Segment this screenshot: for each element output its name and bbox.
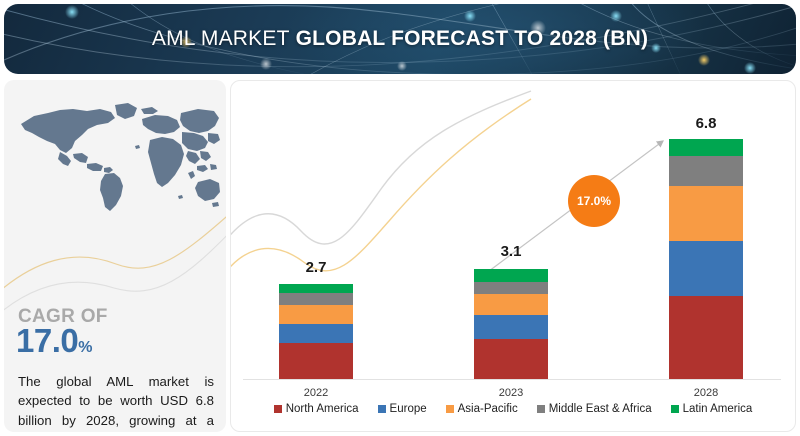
legend-item-asia-pacific[interactable]: Asia-Pacific [446, 403, 518, 415]
cagr-badge: 17.0% [568, 175, 620, 227]
legend-swatch-icon-north-america [274, 405, 282, 413]
legend-label-middle-east-africa: Middle East & Africa [549, 403, 652, 415]
header-banner: AML MARKET GLOBAL FORECAST TO 2028 (BN) [4, 4, 796, 74]
segment-asia-pacific-2022[interactable] [279, 305, 353, 324]
legend-item-north-america[interactable]: North America [274, 403, 359, 415]
cagr-number: 17.0 [16, 322, 78, 359]
segment-middle-east-africa-2023[interactable] [474, 282, 548, 294]
legend-swatch-icon-middle-east-africa [537, 405, 545, 413]
segment-latin-america-2028[interactable] [669, 139, 743, 156]
segment-north-america-2028[interactable] [669, 296, 743, 379]
legend-label-asia-pacific: Asia-Pacific [458, 403, 518, 415]
segment-north-america-2023[interactable] [474, 339, 548, 379]
legend-swatch-icon-europe [378, 405, 386, 413]
page-title: AML MARKET GLOBAL FORECAST TO 2028 (BN) [4, 4, 796, 74]
segment-europe-2028[interactable] [669, 241, 743, 296]
bar-total-label-2028: 6.8 [669, 115, 743, 132]
segment-asia-pacific-2023[interactable] [474, 294, 548, 316]
infographic-page: AML MARKET GLOBAL FORECAST TO 2028 (BN) [0, 0, 800, 436]
bar-total-label-2022: 2.7 [279, 259, 353, 276]
category-label-2028: 2028 [669, 387, 743, 399]
legend-swatch-icon-latin-america [671, 405, 679, 413]
segment-north-america-2022[interactable] [279, 343, 353, 379]
stacked-bar-2023[interactable] [474, 269, 548, 379]
title-light-part: AML MARKET [152, 27, 290, 51]
plot-area: 17.0% 2.7 2022 3.1 2023 6.8 [231, 81, 795, 381]
segment-asia-pacific-2028[interactable] [669, 186, 743, 241]
segment-middle-east-africa-2022[interactable] [279, 293, 353, 305]
chart-panel: 17.0% 2.7 2022 3.1 2023 6.8 [230, 80, 796, 432]
legend-swatch-icon-asia-pacific [446, 405, 454, 413]
segment-latin-america-2023[interactable] [474, 269, 548, 282]
chart-legend: North America Europe Asia-Pacific Middle… [231, 403, 795, 415]
world-map [12, 98, 220, 218]
segment-europe-2022[interactable] [279, 324, 353, 343]
x-axis-line [243, 379, 781, 380]
segment-europe-2023[interactable] [474, 315, 548, 339]
cagr-value: 17.0% [16, 324, 92, 357]
category-label-2022: 2022 [279, 387, 353, 399]
stacked-bar-2022[interactable] [279, 284, 353, 379]
legend-label-europe: Europe [390, 403, 427, 415]
legend-label-north-america: North America [286, 403, 359, 415]
legend-item-europe[interactable]: Europe [378, 403, 427, 415]
bar-total-label-2023: 3.1 [474, 243, 548, 260]
legend-item-latin-america[interactable]: Latin America [671, 403, 753, 415]
decorative-wave-lines-left [4, 200, 226, 320]
summary-panel: CAGR OF 17.0% The global AML market is e… [4, 80, 226, 432]
title-bold-part: GLOBAL FORECAST TO 2028 (BN) [296, 27, 649, 51]
category-label-2023: 2023 [474, 387, 548, 399]
cagr-percent-symbol: % [78, 339, 92, 356]
legend-label-latin-america: Latin America [683, 403, 753, 415]
segment-middle-east-africa-2028[interactable] [669, 156, 743, 186]
stacked-bar-2028[interactable] [669, 139, 743, 379]
world-map-icon [12, 98, 220, 218]
legend-item-middle-east-africa[interactable]: Middle East & Africa [537, 403, 652, 415]
segment-latin-america-2022[interactable] [279, 284, 353, 293]
summary-description: The global AML market is expected to be … [18, 372, 214, 432]
